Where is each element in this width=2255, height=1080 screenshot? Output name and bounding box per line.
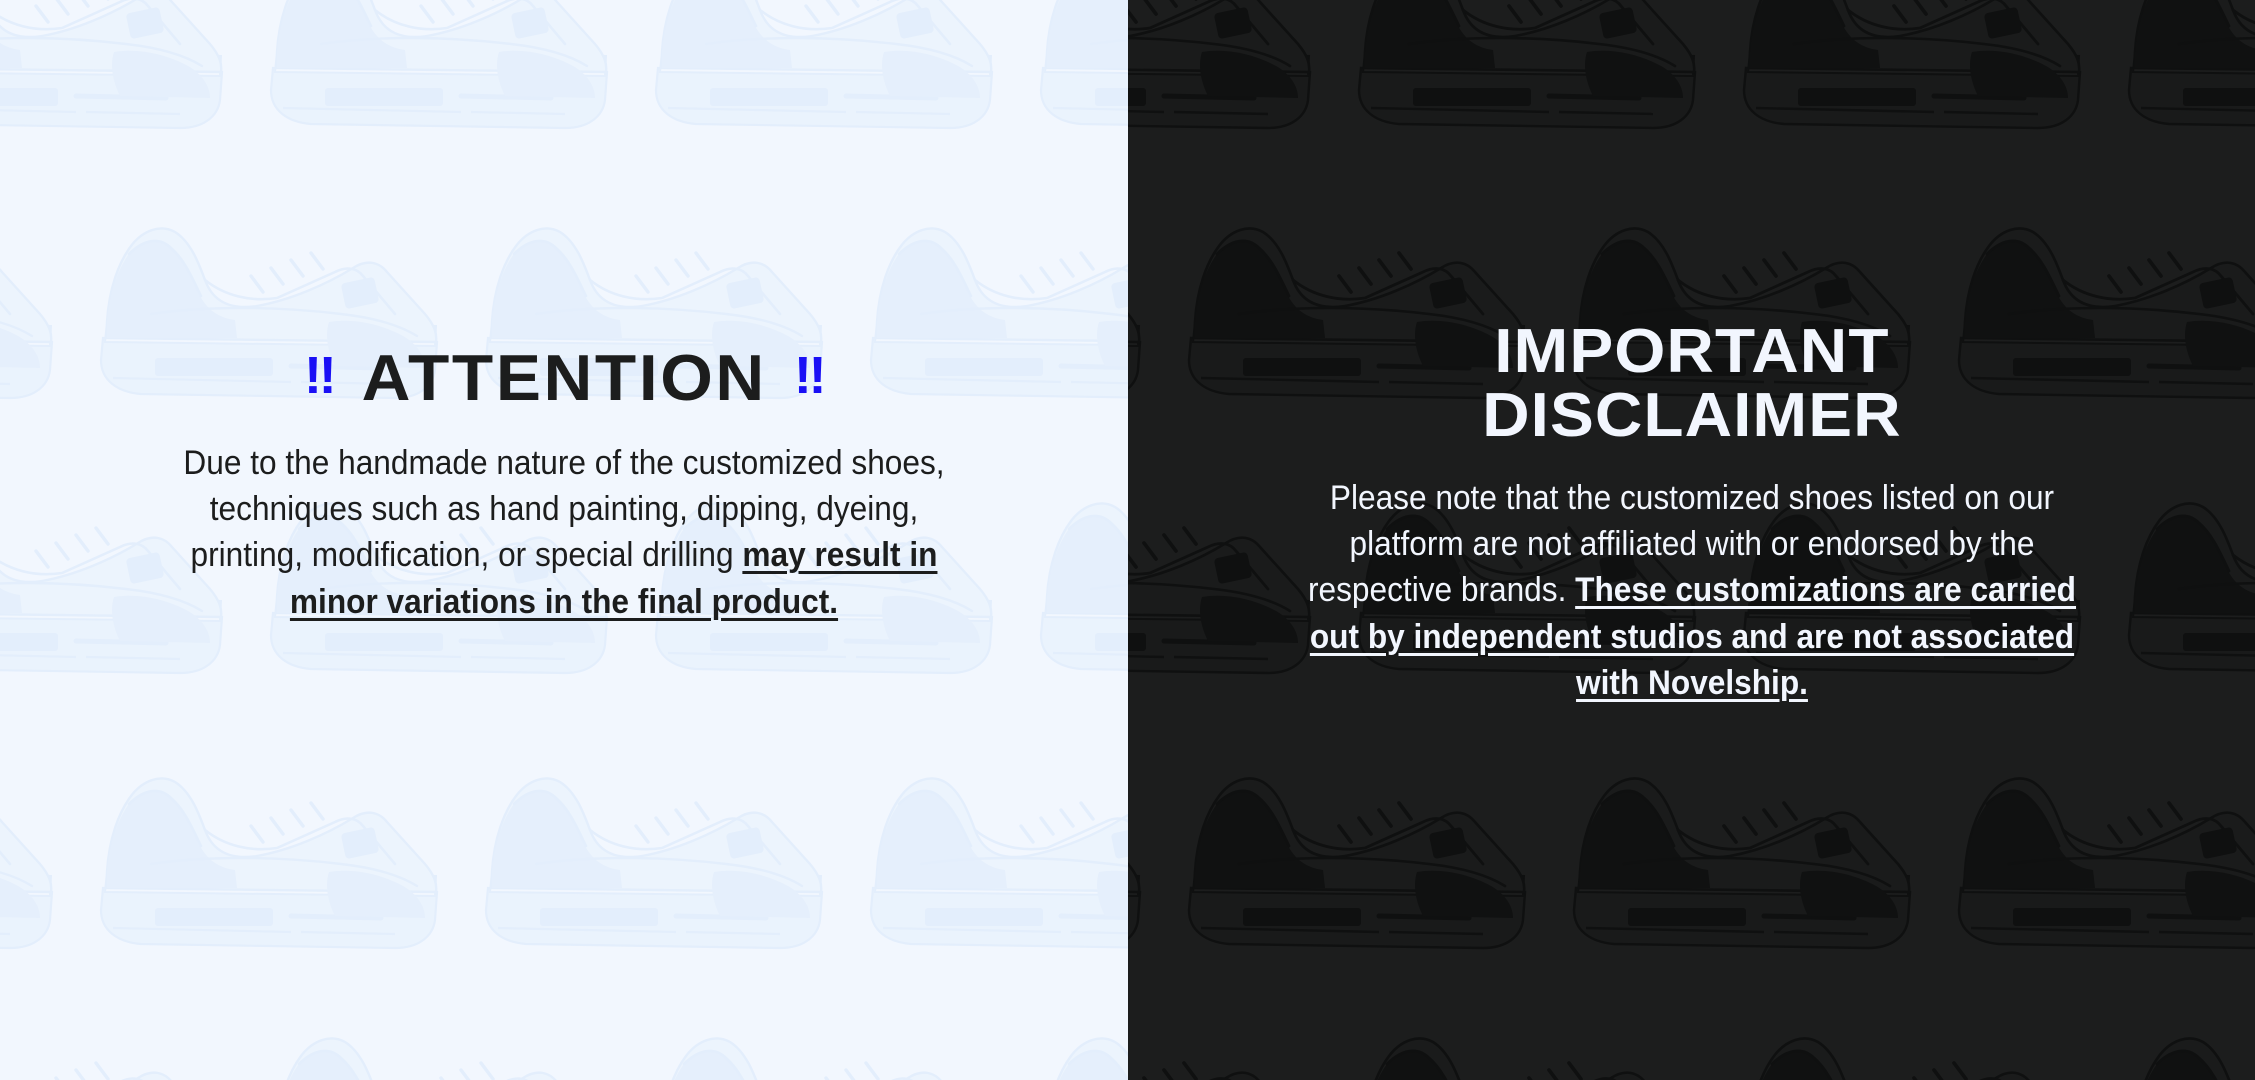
disclaimer-content: IMPORTANT DISCLAIMER Please note that th… xyxy=(1128,0,2255,1080)
disclaimer-heading-line2: DISCLAIMER xyxy=(1482,384,1902,448)
disclaimer-body: Please note that the customized shoes li… xyxy=(1282,475,2100,706)
disclaimer-panel: IMPORTANT DISCLAIMER Please note that th… xyxy=(1128,0,2255,1080)
attention-content: ‼ ATTENTION ‼ Due to the handmade nature… xyxy=(0,0,1128,1080)
attention-body: Due to the handmade nature of the custom… xyxy=(178,440,950,625)
double-exclamation-icon-left: ‼ xyxy=(304,350,335,402)
promo-banner: ‼ ATTENTION ‼ Due to the handmade nature… xyxy=(0,0,2255,1080)
double-exclamation-icon-right: ‼ xyxy=(794,350,825,402)
attention-heading: ‼ ATTENTION ‼ xyxy=(304,345,824,410)
disclaimer-heading: IMPORTANT DISCLAIMER xyxy=(1482,320,1902,449)
disclaimer-heading-line1: IMPORTANT xyxy=(1482,320,1902,384)
attention-heading-text: ATTENTION xyxy=(361,345,766,410)
attention-panel: ‼ ATTENTION ‼ Due to the handmade nature… xyxy=(0,0,1128,1080)
